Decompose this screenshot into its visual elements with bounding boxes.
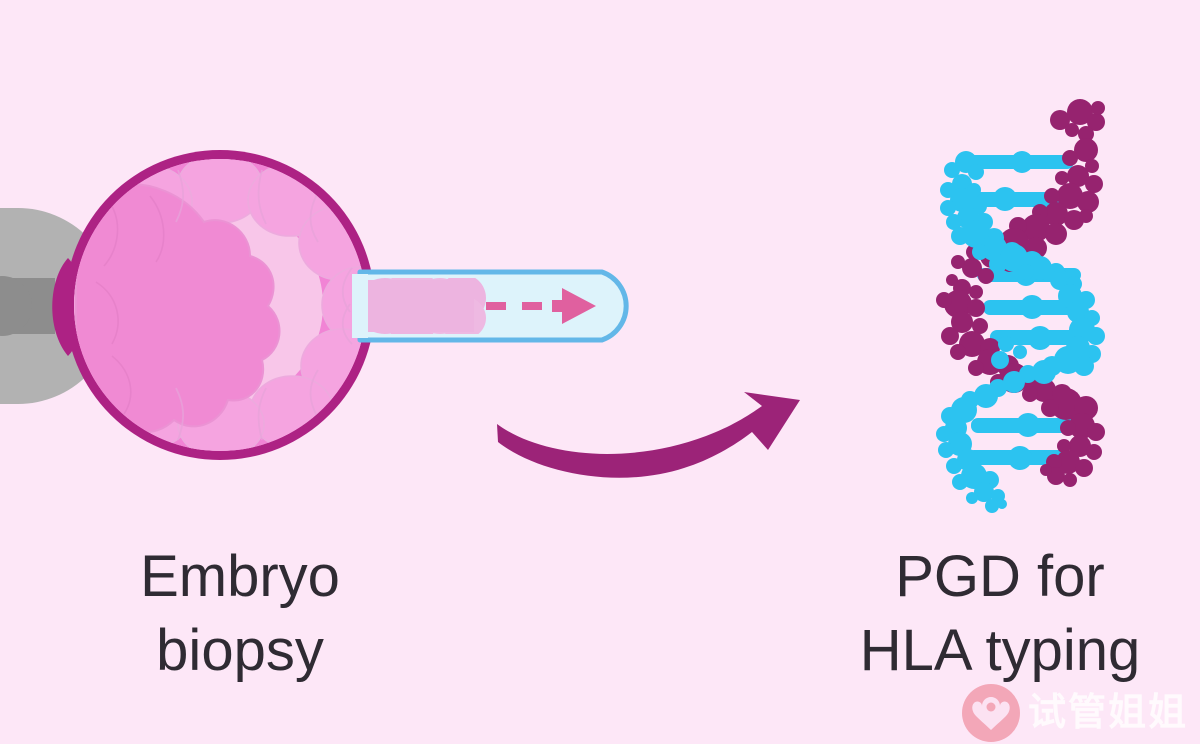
illustration-canvas: Embryo biopsy PGD for HLA typing 试管姐姐 — [0, 0, 1200, 744]
caption-pgd-hla-typing: PGD for HLA typing — [810, 540, 1190, 688]
caption-embryo-biopsy: Embryo biopsy — [40, 540, 440, 688]
biopsy-pipette — [352, 270, 626, 342]
lotus-heart-logo-icon — [962, 684, 1020, 742]
watermark: 试管姐姐 — [962, 682, 1200, 744]
watermark-text: 试管姐姐 — [1028, 694, 1188, 732]
aspirated-biopsy-cells — [355, 270, 486, 342]
